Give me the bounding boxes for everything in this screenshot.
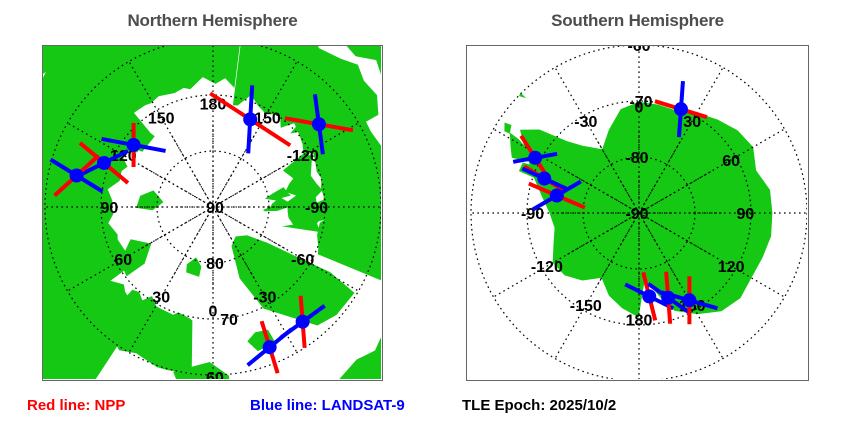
- screenshot-root: Northern Hemisphere 1801501209060300-30-…: [0, 0, 850, 425]
- grid-label: 30: [152, 290, 170, 307]
- plot-frame-north[interactable]: 1801501209060300-30-60-90-120-1509080706…: [42, 45, 383, 381]
- grid-label: 90: [206, 200, 224, 217]
- grid-label: -80: [625, 150, 648, 167]
- satellite-marker: [674, 102, 688, 116]
- satellite-marker: [528, 151, 542, 165]
- satellite-marker: [263, 340, 277, 354]
- grid-label: -90: [625, 206, 648, 223]
- grid-label: -120: [531, 259, 563, 276]
- satellite-marker: [682, 293, 696, 307]
- grid-label: 60: [722, 153, 740, 170]
- polar-plot-north: 1801501209060300-30-60-90-120-1509080706…: [43, 46, 381, 379]
- satellite-marker: [243, 112, 257, 126]
- satellite-marker: [127, 138, 141, 152]
- grid-label: 150: [148, 110, 175, 127]
- grid-label: 90: [737, 206, 755, 223]
- grid-label: 180: [626, 312, 653, 329]
- grid-label: -120: [287, 148, 319, 165]
- satellite-marker: [70, 169, 84, 183]
- legend-blue-line: Blue line: LANDSAT-9: [250, 397, 405, 414]
- grid-label: 120: [718, 259, 745, 276]
- panel-southern-hemisphere: Southern Hemisphere 0306090120150180-150…: [425, 0, 850, 390]
- panel-title-south: Southern Hemisphere: [425, 11, 850, 31]
- grid-label: -150: [570, 298, 602, 315]
- grid-label: 70: [220, 312, 238, 329]
- grid-label: 0: [209, 304, 218, 321]
- panel-title-north: Northern Hemisphere: [0, 11, 425, 31]
- legend-red-line: Red line: NPP: [27, 397, 125, 414]
- legend-tle-epoch: TLE Epoch: 2025/10/2: [462, 397, 616, 414]
- grid-label: -30: [574, 114, 597, 131]
- landmass-island: [504, 123, 511, 134]
- satellite-marker: [642, 289, 656, 303]
- satellite-marker: [97, 156, 111, 170]
- satellite-marker: [296, 315, 310, 329]
- grid-label: 60: [114, 252, 132, 269]
- grid-label: -70: [629, 94, 652, 111]
- landmass: [186, 257, 201, 277]
- grid-label: 80: [206, 256, 224, 273]
- satellite-marker: [550, 189, 564, 203]
- grid-label: 90: [101, 200, 119, 217]
- grid-label: -90: [305, 200, 328, 217]
- grid-label: -60: [627, 46, 650, 55]
- panel-northern-hemisphere: Northern Hemisphere 1801501209060300-30-…: [0, 0, 425, 390]
- polar-plot-south: 0306090120150180-150-120-90-30-60-70-80-…: [467, 46, 807, 379]
- grid-label: 60: [206, 370, 224, 379]
- grid-label: -60: [291, 252, 314, 269]
- satellite-marker: [537, 172, 551, 186]
- plot-frame-south[interactable]: 0306090120150180-150-120-90-30-60-70-80-…: [466, 45, 809, 381]
- landmass-island: [519, 93, 527, 99]
- satellite-marker: [312, 117, 326, 131]
- grid-label: -30: [253, 290, 276, 307]
